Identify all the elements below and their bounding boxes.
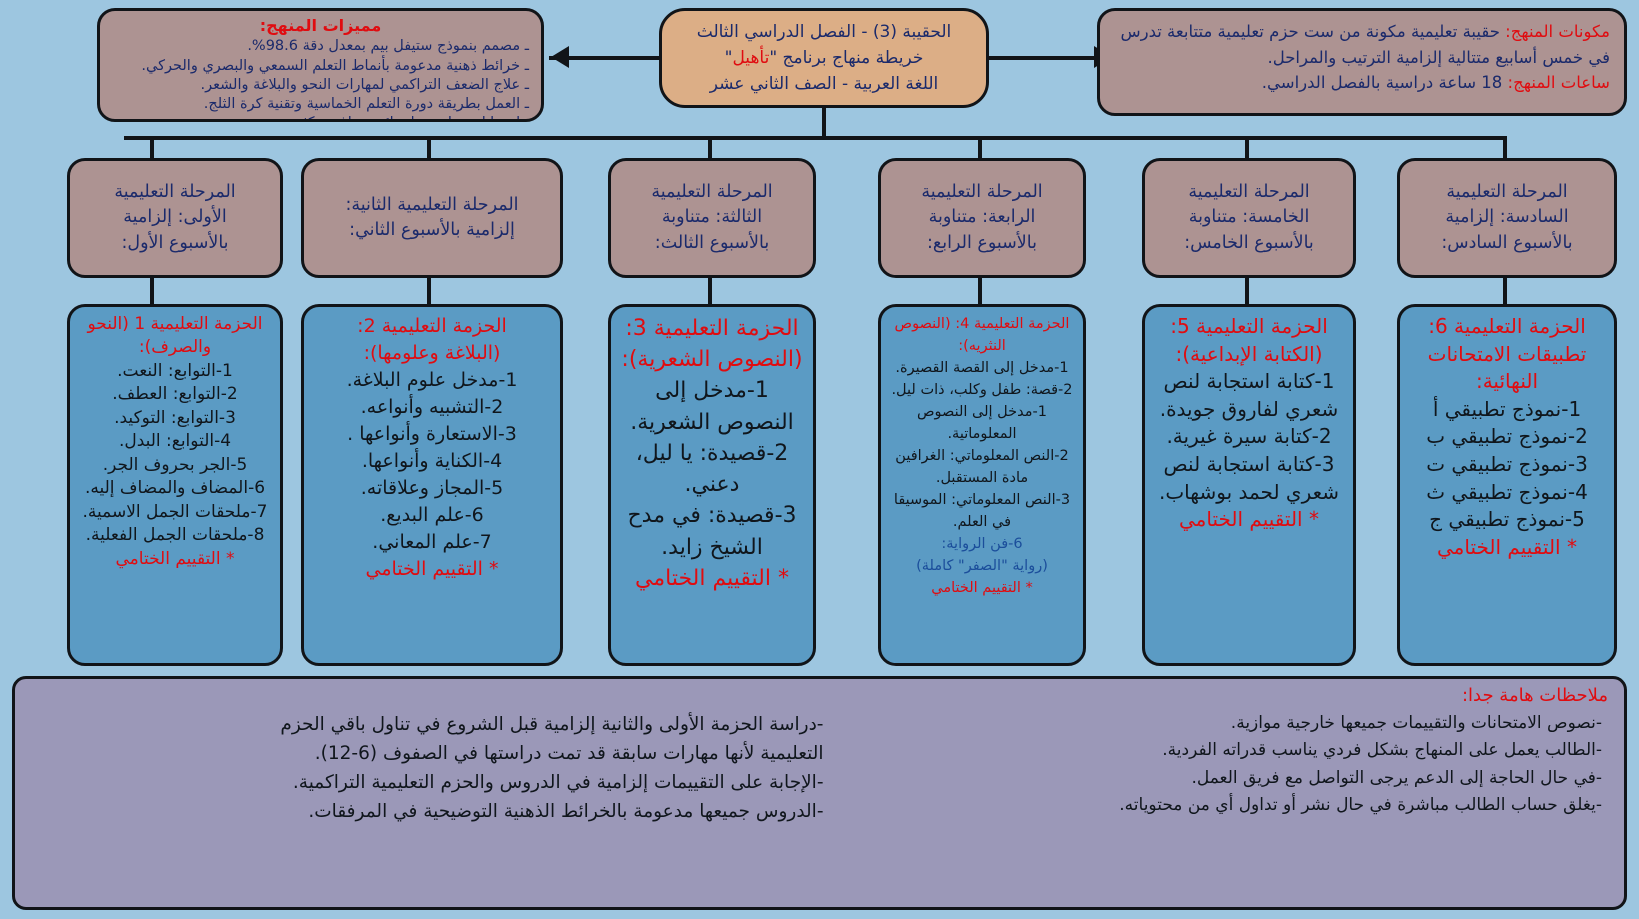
package-item: 1-كتابة استجابة لنص شعري لفاروق جويدة. (1152, 368, 1346, 423)
final-assessment-label: * التقييم الختامي (888, 577, 1076, 599)
package-box-4: الحزمة التعليمية 4: (النصوص النثريه): 1-… (878, 304, 1086, 666)
feature-item: ـ مصمم بنموذج ستيفل بيم بمعدل دقة 98.6%. (112, 37, 529, 56)
package-heading: (النصوص الشعرية): (618, 344, 806, 375)
package-item: 2-قصيدة: يا ليل، دعني. (618, 438, 806, 500)
package-item: 3-التوابع: التوكيد. (77, 407, 273, 430)
package-item: 1-مدخل علوم البلاغة. (311, 367, 553, 394)
package-item: 2-التشبيه وأنواعه. (311, 394, 553, 421)
stage-line: السادسة: إلزامية (1441, 205, 1572, 230)
note-line: -الإجابة على التقييمات إلزامية في الدروس… (45, 768, 824, 797)
stage-line: بالأسبوع الرابع: (921, 231, 1042, 256)
components-text-1: حقيبة تعليمية مكونة من ست حزم تعليمية مت… (1120, 22, 1499, 41)
final-assessment-label: * التقييم الختامي (1407, 534, 1607, 562)
package-item: 7-علم المعاني. (311, 529, 553, 556)
note-line: -دراسة الحزمة الأولى والثانية إلزامية قب… (45, 710, 824, 739)
stage-line: المرحلة التعليمية (1184, 180, 1314, 205)
components-line-2: في خمس أسابيع متتالية إلزامية الترتيب وا… (1114, 45, 1610, 71)
final-assessment-label: * التقييم الختامي (77, 548, 273, 571)
package-box-3: الحزمة التعليمية 3: (النصوص الشعرية): 1-… (608, 304, 816, 666)
stage-box-4: المرحلة التعليمية الرابعة: متناوبة بالأس… (878, 158, 1086, 278)
hours-label: ساعات المنهج: (1508, 73, 1610, 92)
package-item-novel-detail: (رواية "الصفر" كاملة) (888, 555, 1076, 577)
components-line-1: مكونات المنهج: حقيبة تعليمية مكونة من ست… (1114, 19, 1610, 45)
package-heading: (البلاغة وعلومها): (311, 340, 553, 367)
curriculum-map-title-box: الحقيبة (3) - الفصل الدراسي الثالث خريطة… (659, 8, 989, 108)
connector-drop-4 (978, 136, 982, 158)
stage-line: بالأسبوع الأول: (114, 231, 235, 256)
package-item: 1-نموذج تطبيقي أ (1407, 396, 1607, 424)
package-heading: والصرف): (77, 336, 273, 359)
connector-drop-6 (1503, 136, 1507, 158)
connector-drop-1 (150, 136, 154, 158)
package-box-6: الحزمة التعليمية 6: تطبيقات الامتحانات ا… (1397, 304, 1617, 666)
connector-drop-2 (427, 136, 431, 158)
package-item: 5-المجاز وعلاقاته. (311, 475, 553, 502)
package-item: 3-الاستعارة وأنواعها . (311, 421, 553, 448)
package-item: 6-المضاف والمضاف إليه. (77, 477, 273, 500)
connector-stage-pkg-6 (1503, 278, 1507, 304)
connector-stage-pkg-1 (150, 278, 154, 304)
final-assessment-label: * التقييم الختامي (1152, 506, 1346, 534)
stage-line: الرابعة: متناوبة (921, 205, 1042, 230)
stage-line: المرحلة التعليمية (921, 180, 1042, 205)
connector-bus (124, 136, 1507, 140)
connector-center-to-right (986, 56, 1094, 60)
stage-box-6: المرحلة التعليمية السادسة: إلزامية بالأس… (1397, 158, 1617, 278)
note-line: التعليمية لأنها مهارات سابقة قد تمت دراس… (45, 739, 824, 768)
package-item: 2-التوابع: العطف. (77, 383, 273, 406)
package-item: 2-قصة: طفل وكلب، ذات ليل. (888, 379, 1076, 401)
notes-column-right: -دراسة الحزمة الأولى والثانية إلزامية قب… (31, 710, 824, 827)
program-name: تأهيل (732, 48, 769, 68)
features-title: مميزات المنهج: (112, 15, 529, 36)
package-item: 6-علم البديع. (311, 502, 553, 529)
stage-line: المرحلة التعليمية (1441, 180, 1572, 205)
notes-title: ملاحظات هامة جدا: (31, 685, 1608, 708)
package-heading: الحزمة التعليمية 5: (1152, 313, 1346, 341)
important-notes-panel: ملاحظات هامة جدا: -نصوص الامتحانات والتق… (12, 676, 1627, 910)
hours-text: 18 ساعة دراسية بالفصل الدراسي. (1262, 73, 1503, 92)
stage-line: بالأسبوع السادس: (1441, 231, 1572, 256)
title-line-1: الحقيبة (3) - الفصل الدراسي الثالث (672, 20, 976, 46)
feature-item: ـ امتحانات تطبيقية إجرائية صياغية مكثفة. (112, 114, 529, 122)
program-label-pre: خريطة منهاج برنامج " (769, 48, 923, 68)
package-heading: النثريه): (888, 335, 1076, 357)
package-item: 1-مدخل إلى النصوص الشعرية. (618, 375, 806, 437)
connector-drop-3 (708, 136, 712, 158)
package-heading: (الكتابة الإبداعية): (1152, 341, 1346, 369)
stage-line: المرحلة التعليمية (114, 180, 235, 205)
package-heading: الحزمة التعليمية 1 (النحو (77, 313, 273, 336)
package-item: 5-نموذج تطبيقي ج (1407, 506, 1607, 534)
package-item: 1-التوابع: النعت. (77, 360, 273, 383)
note-line: -يغلق حساب الطالب مباشرة في حال نشر أو ت… (824, 792, 1603, 820)
package-heading: الحزمة التعليمية 4: (النصوص (888, 313, 1076, 335)
feature-item: ـ العمل بطريقة دورة التعلم الخماسية وتقن… (112, 95, 529, 114)
package-item: 3-كتابة استجابة لنص شعري لحمد بوشهاب. (1152, 451, 1346, 506)
package-item: 4-نموذج تطبيقي ث (1407, 479, 1607, 507)
stage-box-2: المرحلة التعليمية الثانية: إلزامية بالأس… (301, 158, 563, 278)
note-line: -الدروس جميعها مدعومة بالخرائط الذهنية ا… (45, 797, 824, 826)
package-item: 2-كتابة سيرة غيرية. (1152, 423, 1346, 451)
connector-stage-pkg-2 (427, 278, 431, 304)
package-heading: الحزمة التعليمية 6: (1407, 313, 1607, 341)
package-heading: النهائية: (1407, 368, 1607, 396)
package-item: 4-التوابع: البدل. (77, 430, 273, 453)
stage-box-1: المرحلة التعليمية الأولى: إلزامية بالأسب… (67, 158, 283, 278)
package-box-2: الحزمة التعليمية 2: (البلاغة وعلومها): 1… (301, 304, 563, 666)
connector-stage-pkg-5 (1245, 278, 1249, 304)
package-heading: الحزمة التعليمية 3: (618, 313, 806, 344)
package-item: 5-الجر بحروف الجر. (77, 454, 273, 477)
package-item-novel-heading: 6-فن الرواية: (888, 533, 1076, 555)
feature-item: ـ علاج الضعف التراكمي لمهارات النحو والب… (112, 76, 529, 95)
title-line-3: اللغة العربية - الصف الثاني عشر (672, 72, 976, 98)
curriculum-components-box: مكونات المنهج: حقيبة تعليمية مكونة من ست… (1097, 8, 1627, 116)
components-label: مكونات المنهج: (1505, 22, 1610, 41)
stage-line: المرحلة التعليمية (651, 180, 772, 205)
package-item: 7-ملحقات الجمل الاسمية. (77, 501, 273, 524)
package-item: 3-نموذج تطبيقي ت (1407, 451, 1607, 479)
components-line-3: ساعات المنهج: 18 ساعة دراسية بالفصل الدر… (1114, 70, 1610, 96)
package-item: 2-نموذج تطبيقي ب (1407, 423, 1607, 451)
package-item: 8-ملحقات الجمل الفعلية. (77, 524, 273, 547)
stage-box-5: المرحلة التعليمية الخامسة: متناوبة بالأس… (1142, 158, 1356, 278)
title-line-2: خريطة منهاج برنامج "تأهيل" (672, 46, 976, 72)
package-heading: تطبيقات الامتحانات (1407, 341, 1607, 369)
stage-line: الثالثة: متناوبة (651, 205, 772, 230)
final-assessment-label: * التقييم الختامي (311, 556, 553, 583)
stage-line: بالأسبوع الثالث: (651, 231, 772, 256)
package-item: 4-الكناية وأنواعها. (311, 448, 553, 475)
note-line: -الطالب يعمل على المنهاج بشكل فردي يناسب… (824, 737, 1603, 765)
package-item: 1-مدخل إلى النصوص المعلوماتية. (888, 401, 1076, 445)
notes-column-left: -نصوص الامتحانات والتقييمات جميعها خارجي… (824, 710, 1609, 827)
connector-drop-5 (1245, 136, 1249, 158)
stage-line: إلزامية بالأسبوع الثاني: (345, 218, 518, 243)
stage-line: الأولى: إلزامية (114, 205, 235, 230)
package-box-5: الحزمة التعليمية 5: (الكتابة الإبداعية):… (1142, 304, 1356, 666)
stage-box-3: المرحلة التعليمية الثالثة: متناوبة بالأس… (608, 158, 816, 278)
stage-line: بالأسبوع الخامس: (1184, 231, 1314, 256)
connector-stage-pkg-3 (708, 278, 712, 304)
package-box-1: الحزمة التعليمية 1 (النحو والصرف): 1-الت… (67, 304, 283, 666)
curriculum-features-box: مميزات المنهج: ـ مصمم بنموذج ستيفل بيم ب… (97, 8, 544, 122)
package-item: 3-النص المعلوماتي: الموسيقا في العلم. (888, 489, 1076, 533)
package-heading: الحزمة التعليمية 2: (311, 313, 553, 340)
connector-center-down (822, 108, 826, 138)
stage-line: المرحلة التعليمية الثانية: (345, 193, 518, 218)
note-line: -في حال الحاجة إلى الدعم يرجى التواصل مع… (824, 765, 1603, 793)
package-item: 2-النص المعلوماتي: الغرافين مادة المستقب… (888, 445, 1076, 489)
arrow-left-icon (551, 46, 569, 68)
final-assessment-label: * التقييم الختامي (618, 563, 806, 594)
package-item: 1-مدخل إلى القصة القصيرة. (888, 357, 1076, 379)
feature-item: ـ خرائط ذهنية مدعومة بأنماط التعلم السمع… (112, 57, 529, 76)
stage-line: الخامسة: متناوبة (1184, 205, 1314, 230)
package-item: 3-قصيدة: في مدح الشيخ زايد. (618, 500, 806, 562)
connector-stage-pkg-4 (978, 278, 982, 304)
note-line: -نصوص الامتحانات والتقييمات جميعها خارجي… (824, 710, 1603, 738)
